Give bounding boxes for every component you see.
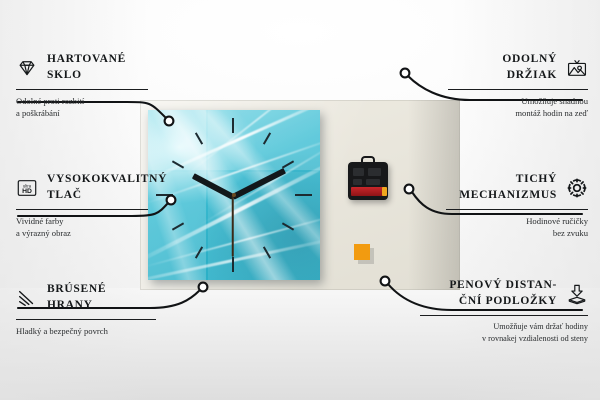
feature-subtitle-line-1: Hodinové ručičky: [446, 215, 588, 227]
foam-spacer-icon: [566, 283, 588, 305]
infographic-canvas: HARTOVANÉ SKLO Odolné proti rozbití a po…: [0, 0, 600, 400]
feature-high-quality-print: ultra HD VYSOKOKVALITNÝ TLAČ Vividné far…: [16, 172, 148, 240]
diamond-icon: [16, 57, 38, 79]
photo-border: [140, 100, 460, 290]
feature-title-line-1: HARTOVANÉ: [47, 52, 126, 68]
feature-divider: [420, 315, 588, 316]
feature-title-line-1: TICHÝ: [516, 172, 557, 188]
gear-icon: [566, 177, 588, 199]
feature-title-line-2: ČNÍ PODLOŽKY: [459, 294, 557, 310]
feature-subtitle-line-2: a poškrábání: [16, 107, 148, 119]
feature-subtitle-line-1: Umožňuje snadnou: [448, 95, 588, 107]
polished-edges-icon: [16, 287, 38, 309]
feature-title-line-1: PENOVÝ DISTAN-: [449, 278, 557, 294]
feature-polished-edges: BRÚSENÉ HRANY Hladký a bezpečný povrch: [16, 282, 156, 337]
feature-subtitle-line-2: bez zvuku: [446, 227, 588, 239]
feature-header: HARTOVANÉ SKLO: [16, 52, 148, 84]
feature-durable-holder: ODOLNÝ DRŽIAK Umožňuje snadnou montáž ho…: [448, 52, 588, 120]
feature-foam-spacers: PENOVÝ DISTAN- ČNÍ PODLOŽKY Umožňuje vám…: [420, 278, 588, 345]
feature-silent-mechanism: TICHÝ MECHANIZMUS Hodinové ručičky bez z…: [446, 172, 588, 240]
feature-title-line-2: TLAČ: [47, 188, 167, 204]
feature-titles: TICHÝ MECHANIZMUS: [459, 172, 557, 204]
feature-titles: VYSOKOKVALITNÝ TLAČ: [47, 172, 167, 204]
feature-subtitle-line-1: Odolné proti rozbití: [16, 95, 148, 107]
feature-subtitle-line-2: a výrazný obraz: [16, 227, 148, 239]
feature-titles: PENOVÝ DISTAN- ČNÍ PODLOŽKY: [449, 278, 557, 310]
feature-title-line-1: BRÚSENÉ: [47, 282, 106, 298]
wall-frame-icon: [566, 57, 588, 79]
feature-header: BRÚSENÉ HRANY: [16, 282, 156, 314]
feature-title-line-2: HRANY: [47, 298, 106, 314]
ultra-hd-icon: ultra HD: [16, 177, 38, 199]
feature-title-line-1: ODOLNÝ: [502, 52, 557, 68]
feature-divider: [16, 319, 156, 320]
feature-subtitle-line-1: Hladký a bezpečný povrch: [16, 325, 156, 337]
feature-divider: [446, 209, 588, 210]
feature-subtitle-line-1: Umožňuje vám držať hodiny: [420, 321, 588, 333]
feature-title-line-2: DRŽIAK: [507, 68, 557, 84]
product-photo: [140, 100, 460, 290]
feature-divider: [16, 89, 148, 90]
feature-titles: ODOLNÝ DRŽIAK: [502, 52, 557, 84]
feature-title-line-2: SKLO: [47, 68, 126, 84]
feature-titles: HARTOVANÉ SKLO: [47, 52, 126, 84]
feature-header: ultra HD VYSOKOKVALITNÝ TLAČ: [16, 172, 148, 204]
feature-header: TICHÝ MECHANIZMUS: [446, 172, 588, 204]
feature-title-line-1: VYSOKOKVALITNÝ: [47, 172, 167, 188]
feature-subtitle-line-1: Vividné farby: [16, 215, 148, 227]
feature-subtitle-line-2: montáž hodin na zeď: [448, 107, 588, 119]
feature-title-line-2: MECHANIZMUS: [459, 188, 557, 204]
feature-titles: BRÚSENÉ HRANY: [47, 282, 106, 314]
feature-header: PENOVÝ DISTAN- ČNÍ PODLOŽKY: [420, 278, 588, 310]
svg-text:HD: HD: [22, 188, 32, 195]
feature-tempered-glass: HARTOVANÉ SKLO Odolné proti rozbití a po…: [16, 52, 148, 120]
feature-divider: [16, 209, 148, 210]
feature-header: ODOLNÝ DRŽIAK: [448, 52, 588, 84]
feature-divider: [448, 89, 588, 90]
feature-subtitle-line-2: v rovnakej vzdialenosti od steny: [420, 333, 588, 345]
